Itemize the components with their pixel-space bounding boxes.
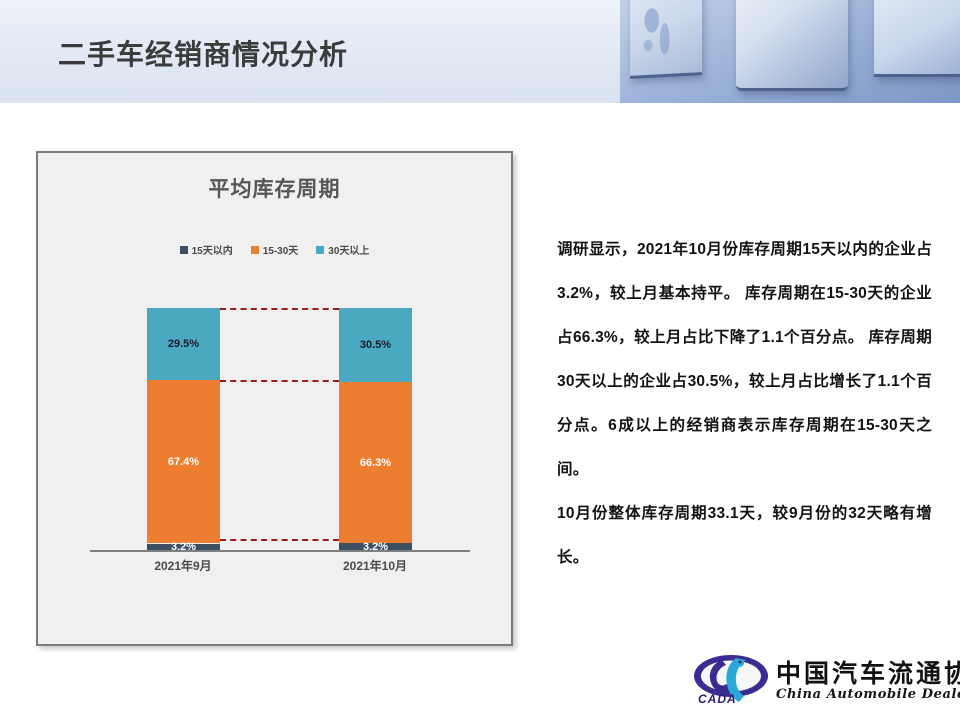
cube-icon-right (874, 0, 960, 77)
bar-group-2021-09: 29.5% 67.4% 3.2% (147, 308, 220, 551)
bar-segment-30days-plus-2021-09: 29.5% (147, 308, 220, 380)
cada-logo: CADA 中国汽车流通协会 China Automobile Dealers A… (692, 650, 950, 712)
commentary-text: 调研显示，2021年10月份库存周期15天以内的企业占3.2%，较上月基本持平。… (557, 228, 932, 580)
category-label-2021-09: 2021年9月 (113, 557, 253, 574)
cube-icon-left (630, 0, 702, 79)
world-map-icon (638, 3, 684, 61)
header-decoration-image (620, 0, 960, 103)
chart-axis-line (90, 550, 470, 552)
slide-root: 二手车经销商情况分析 平均库存周期 15天以内 15-30天 30天以上 (0, 0, 960, 720)
page-title: 二手车经销商情况分析 (58, 33, 348, 73)
commentary-paragraph-2: 10月份整体库存周期33.1天，较9月份的32天略有增长。 (557, 492, 932, 580)
chart-panel: 平均库存周期 15天以内 15-30天 30天以上 29 (36, 151, 513, 646)
bar-group-2021-10: 30.5% 66.3% 3.2% (339, 308, 412, 551)
cada-logo-name-cn: 中国汽车流通协会 (776, 654, 960, 690)
category-label-2021-10: 2021年10月 (305, 557, 445, 574)
bar-segment-15-30days-2021-09: 67.4% (147, 380, 220, 544)
cube-icon-center (736, 0, 848, 91)
slide-header: 二手车经销商情况分析 (0, 0, 960, 103)
cada-logo-abbr: CADA (698, 692, 737, 706)
bar-segment-15-30days-2021-10: 66.3% (339, 382, 412, 543)
dashed-connector-top (220, 308, 339, 310)
chart-plot-area: 29.5% 67.4% 3.2% 30.5% 66.3% 3.2% 2021年9… (38, 153, 511, 644)
commentary-paragraph-1: 调研显示，2021年10月份库存周期15天以内的企业占3.2%，较上月基本持平。… (557, 228, 932, 492)
dashed-connector-navy-top (220, 539, 339, 541)
dashed-connector-orange-top (220, 380, 339, 382)
bar-segment-30days-plus-2021-10: 30.5% (339, 308, 412, 382)
cada-logo-name-en: China Automobile Dealers Association (776, 687, 960, 702)
